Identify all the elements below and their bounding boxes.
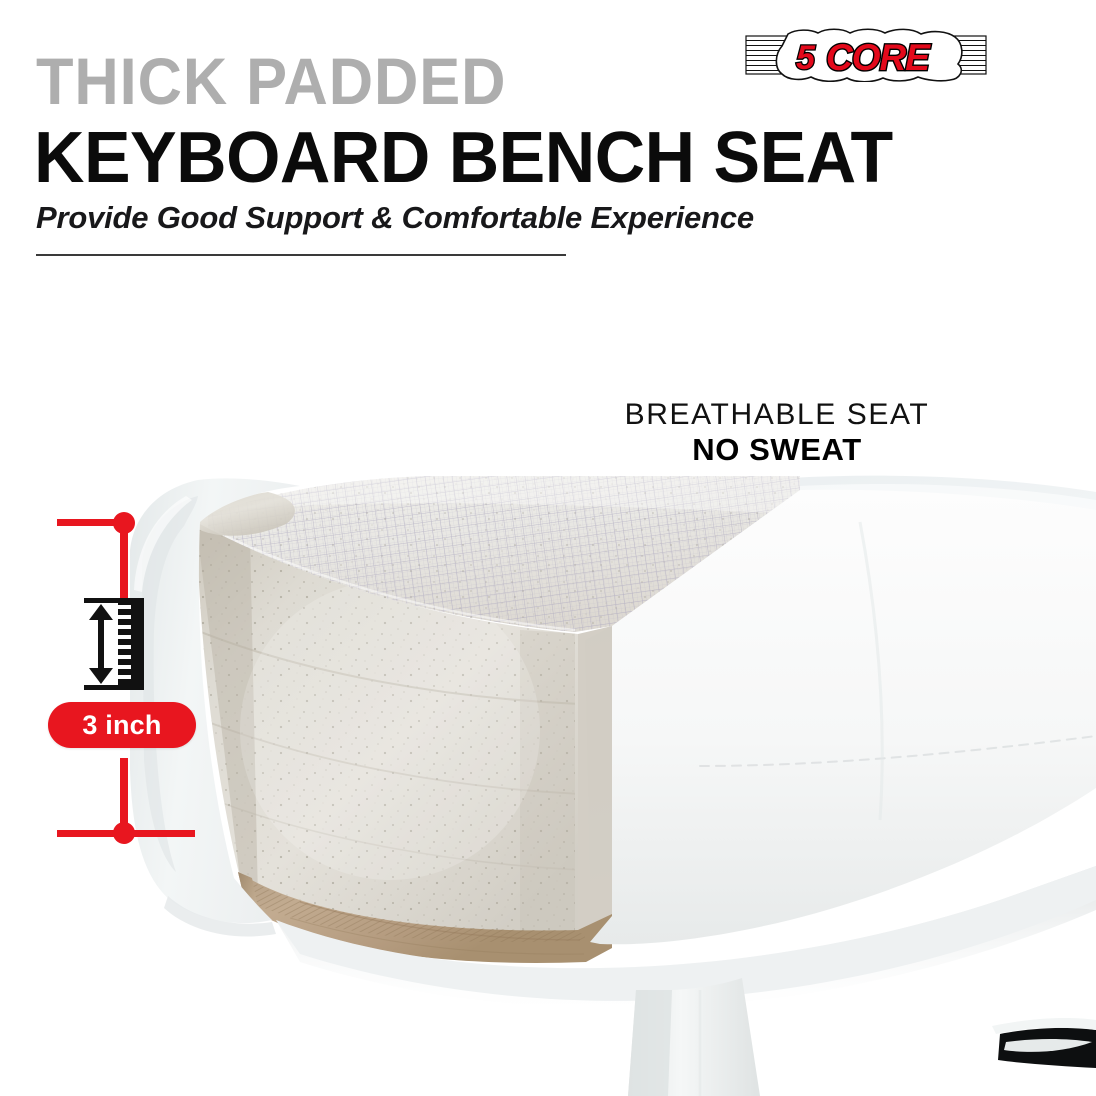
dimension-badge-label: 3 inch [82, 712, 161, 739]
brand-logo-number: 5 [796, 39, 816, 77]
page-subtitle: Provide Good Support & Comfortable Exper… [36, 200, 754, 236]
page-kicker: THICK PADDED [36, 48, 506, 114]
ruler-height-icon [82, 598, 144, 690]
callout-line-primary: BREATHABLE SEAT [612, 398, 942, 432]
brand-logo: 5 CORE [744, 28, 988, 82]
dimension-badge: 3 inch [48, 702, 196, 748]
bench-leg [628, 978, 760, 1096]
page-title: KEYBOARD BENCH SEAT [34, 122, 893, 194]
callout-line-secondary: NO SWEAT [612, 432, 942, 468]
header-divider [36, 254, 566, 256]
brand-logo-word: CORE [826, 37, 931, 78]
foam-cut-plane [578, 626, 612, 932]
leg-bracket-detail [992, 1018, 1096, 1068]
product-marketing-banner: THICK PADDED KEYBOARD BENCH SEAT Provide… [0, 0, 1096, 1096]
brand-logo-icon: 5 CORE [744, 28, 988, 82]
breathable-callout: BREATHABLE SEAT NO SWEAT [612, 398, 942, 468]
